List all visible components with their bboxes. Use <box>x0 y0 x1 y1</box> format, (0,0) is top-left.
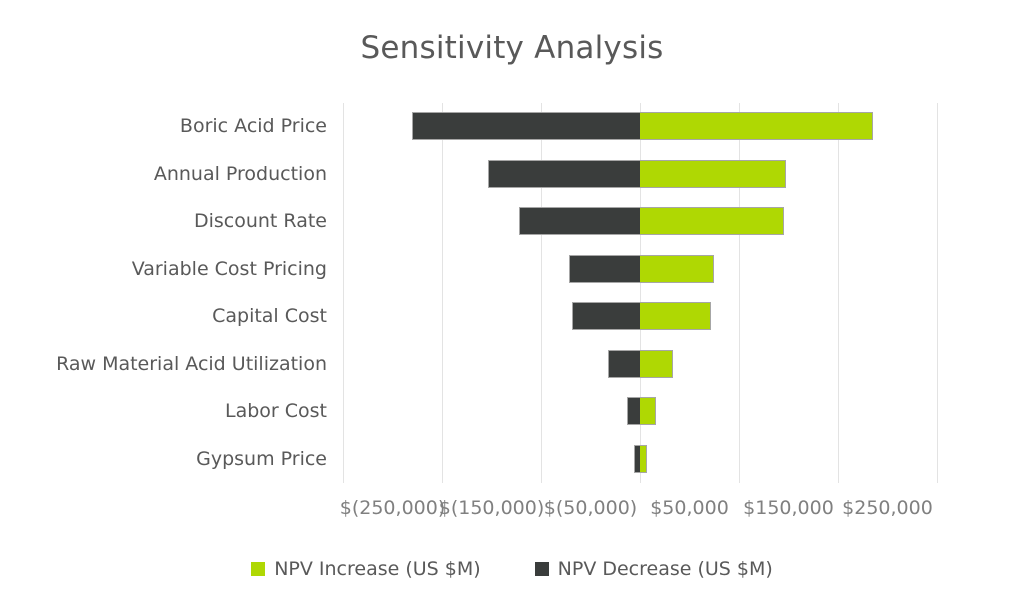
bar-row <box>343 151 937 199</box>
value-axis-tick-label: $50,000 <box>650 494 729 522</box>
bar-row <box>343 341 937 389</box>
bar-segment-increase[interactable] <box>640 350 673 378</box>
bar-row <box>343 198 937 246</box>
category-label: Capital Cost <box>0 293 327 341</box>
bar-segment-decrease[interactable] <box>519 207 640 235</box>
category-label: Boric Acid Price <box>0 103 327 151</box>
bar-row <box>343 103 937 151</box>
bar-segment-decrease[interactable] <box>627 397 640 425</box>
legend-item[interactable]: NPV Decrease (US $M) <box>535 558 773 580</box>
bar-segment-increase[interactable] <box>640 207 784 235</box>
category-label: Gypsum Price <box>0 436 327 484</box>
bar-segment-decrease[interactable] <box>412 112 640 140</box>
value-axis-tick-label: $(50,000) <box>544 494 637 522</box>
legend-swatch-icon <box>251 562 265 576</box>
value-axis-tick-label: $250,000 <box>842 494 933 522</box>
legend-item[interactable]: NPV Increase (US $M) <box>251 558 480 580</box>
bar-segment-decrease[interactable] <box>572 302 640 330</box>
bar-row <box>343 293 937 341</box>
bar-segment-decrease[interactable] <box>569 255 640 283</box>
category-label: Labor Cost <box>0 388 327 436</box>
bar-segment-decrease[interactable] <box>488 160 640 188</box>
chart-title: Sensitivity Analysis <box>0 28 1024 68</box>
chart-legend: NPV Increase (US $M)NPV Decrease (US $M) <box>0 558 1024 580</box>
bar-segment-increase[interactable] <box>640 160 786 188</box>
bar-row <box>343 436 937 484</box>
plot-area <box>343 103 937 483</box>
category-label: Discount Rate <box>0 198 327 246</box>
category-label: Raw Material Acid Utilization <box>0 341 327 389</box>
value-axis-labels: $(250,000)$(150,000)$(50,000)$50,000$150… <box>343 494 937 526</box>
bar-segment-increase[interactable] <box>640 445 647 473</box>
value-axis-tick-label: $(250,000) <box>340 494 445 522</box>
value-axis-tick-label: $150,000 <box>743 494 834 522</box>
category-label: Annual Production <box>0 151 327 199</box>
bar-row <box>343 246 937 294</box>
category-axis-labels: Boric Acid PriceAnnual ProductionDiscoun… <box>0 103 327 483</box>
bar-segment-decrease[interactable] <box>608 350 640 378</box>
legend-label: NPV Increase (US $M) <box>274 558 480 580</box>
bar-segment-increase[interactable] <box>640 112 873 140</box>
legend-swatch-icon <box>535 562 549 576</box>
value-axis-tick-label: $(150,000) <box>439 494 544 522</box>
legend-label: NPV Decrease (US $M) <box>558 558 773 580</box>
category-label: Variable Cost Pricing <box>0 246 327 294</box>
bar-row <box>343 388 937 436</box>
sensitivity-analysis-chart: Sensitivity Analysis Boric Acid PriceAnn… <box>0 0 1024 614</box>
bar-segment-increase[interactable] <box>640 302 711 330</box>
bar-segment-increase[interactable] <box>640 397 656 425</box>
bar-segment-increase[interactable] <box>640 255 714 283</box>
